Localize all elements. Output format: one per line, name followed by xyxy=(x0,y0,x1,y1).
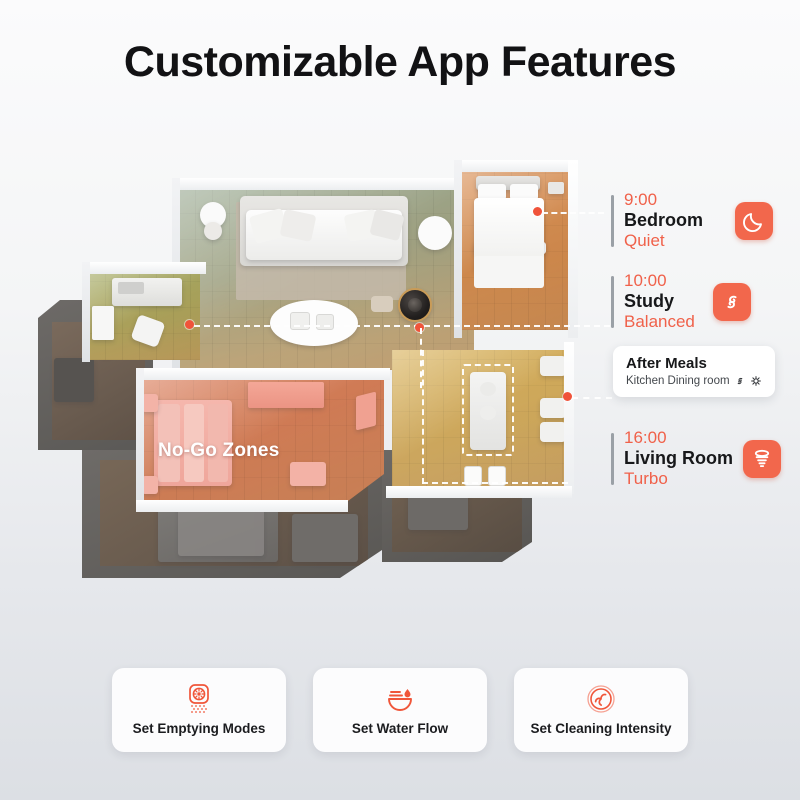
after-meals-card[interactable]: After Meals Kitchen Dining room xyxy=(613,346,775,397)
suction-spiral-icon xyxy=(734,375,746,387)
marker-dot-study xyxy=(185,320,194,329)
room-living-area xyxy=(178,188,474,370)
feature-card-label: Set Cleaning Intensity xyxy=(530,721,671,736)
wall-bedroom-right xyxy=(568,160,578,338)
tornado-icon[interactable] xyxy=(743,440,781,478)
callout-time: 9:00 xyxy=(624,190,703,210)
moon-icon[interactable] xyxy=(735,202,773,240)
water-bowl-icon xyxy=(382,684,418,714)
feature-card-label: Set Emptying Modes xyxy=(133,721,266,736)
wall-study-left xyxy=(82,262,90,362)
room-study xyxy=(88,272,200,360)
wall-nogo-top xyxy=(136,368,390,380)
feature-card-water-flow[interactable]: Set Water Flow xyxy=(313,668,487,752)
wall-living-top xyxy=(172,178,480,190)
wall-bedroom-left xyxy=(454,160,462,338)
schedule-callout-living-room[interactable]: 16:00 Living Room Turbo xyxy=(611,428,781,489)
feature-card-row: Set Emptying Modes Set Water Flow Set Cl… xyxy=(0,668,800,752)
spiral-icon[interactable] xyxy=(713,283,751,321)
callout-divider xyxy=(611,276,614,328)
lead-line-bedroom xyxy=(542,212,604,214)
feature-card-emptying-modes[interactable]: Set Emptying Modes xyxy=(112,668,286,752)
callout-mode: Quiet xyxy=(624,231,703,251)
callout-room: Living Room xyxy=(624,448,733,469)
swirl-circle-icon xyxy=(586,684,616,714)
wall-kitchen-bottom xyxy=(386,486,572,498)
schedule-callout-study[interactable]: 10:00 Study Balanced xyxy=(611,271,751,332)
callout-room: Study xyxy=(624,291,695,312)
schedule-callout-bedroom[interactable]: 9:00 Bedroom Quiet xyxy=(611,190,773,251)
zone-boundary xyxy=(462,364,514,456)
zone-path-vertical xyxy=(422,350,424,484)
wall-bedroom-top xyxy=(454,160,576,172)
room-kitchen-dining xyxy=(392,350,568,490)
pill-title: After Meals xyxy=(626,355,762,372)
floorplan: No-Go Zones xyxy=(30,150,610,610)
nogo-zones-label: No-Go Zones xyxy=(158,440,279,462)
marker-dot-living xyxy=(563,392,572,401)
callout-divider xyxy=(611,195,614,247)
wall-nogo-left xyxy=(136,368,144,510)
lead-line-living xyxy=(572,397,612,399)
pill-subtitle: Kitchen Dining room xyxy=(626,375,730,387)
pill-subtitle-row: Kitchen Dining room xyxy=(626,375,762,387)
feature-card-label: Set Water Flow xyxy=(352,721,448,736)
callout-divider xyxy=(611,433,614,485)
dust-collector-icon xyxy=(182,684,216,714)
callout-time: 16:00 xyxy=(624,428,733,448)
lead-line-kitchen-vertical xyxy=(420,328,422,388)
callout-mode: Turbo xyxy=(624,469,733,489)
callout-mode: Balanced xyxy=(624,312,695,332)
floorplan-stage: No-Go Zones 9:00 Bedroom Quiet 10:00 Stu… xyxy=(0,140,800,620)
wall-kitchen-right xyxy=(564,342,574,494)
page-title: Customizable App Features xyxy=(0,38,800,87)
wall-study-top xyxy=(82,262,206,274)
mop-pad-icon xyxy=(750,375,762,387)
callout-room: Bedroom xyxy=(624,210,703,231)
room-bedroom xyxy=(460,170,570,330)
lead-line-study xyxy=(194,325,610,327)
feature-card-cleaning-intensity[interactable]: Set Cleaning Intensity xyxy=(514,668,688,752)
marker-dot-bedroom xyxy=(533,207,542,216)
wall-nogo-bottom xyxy=(136,500,348,512)
zone-path-horizontal xyxy=(422,482,568,484)
callout-time: 10:00 xyxy=(624,271,695,291)
